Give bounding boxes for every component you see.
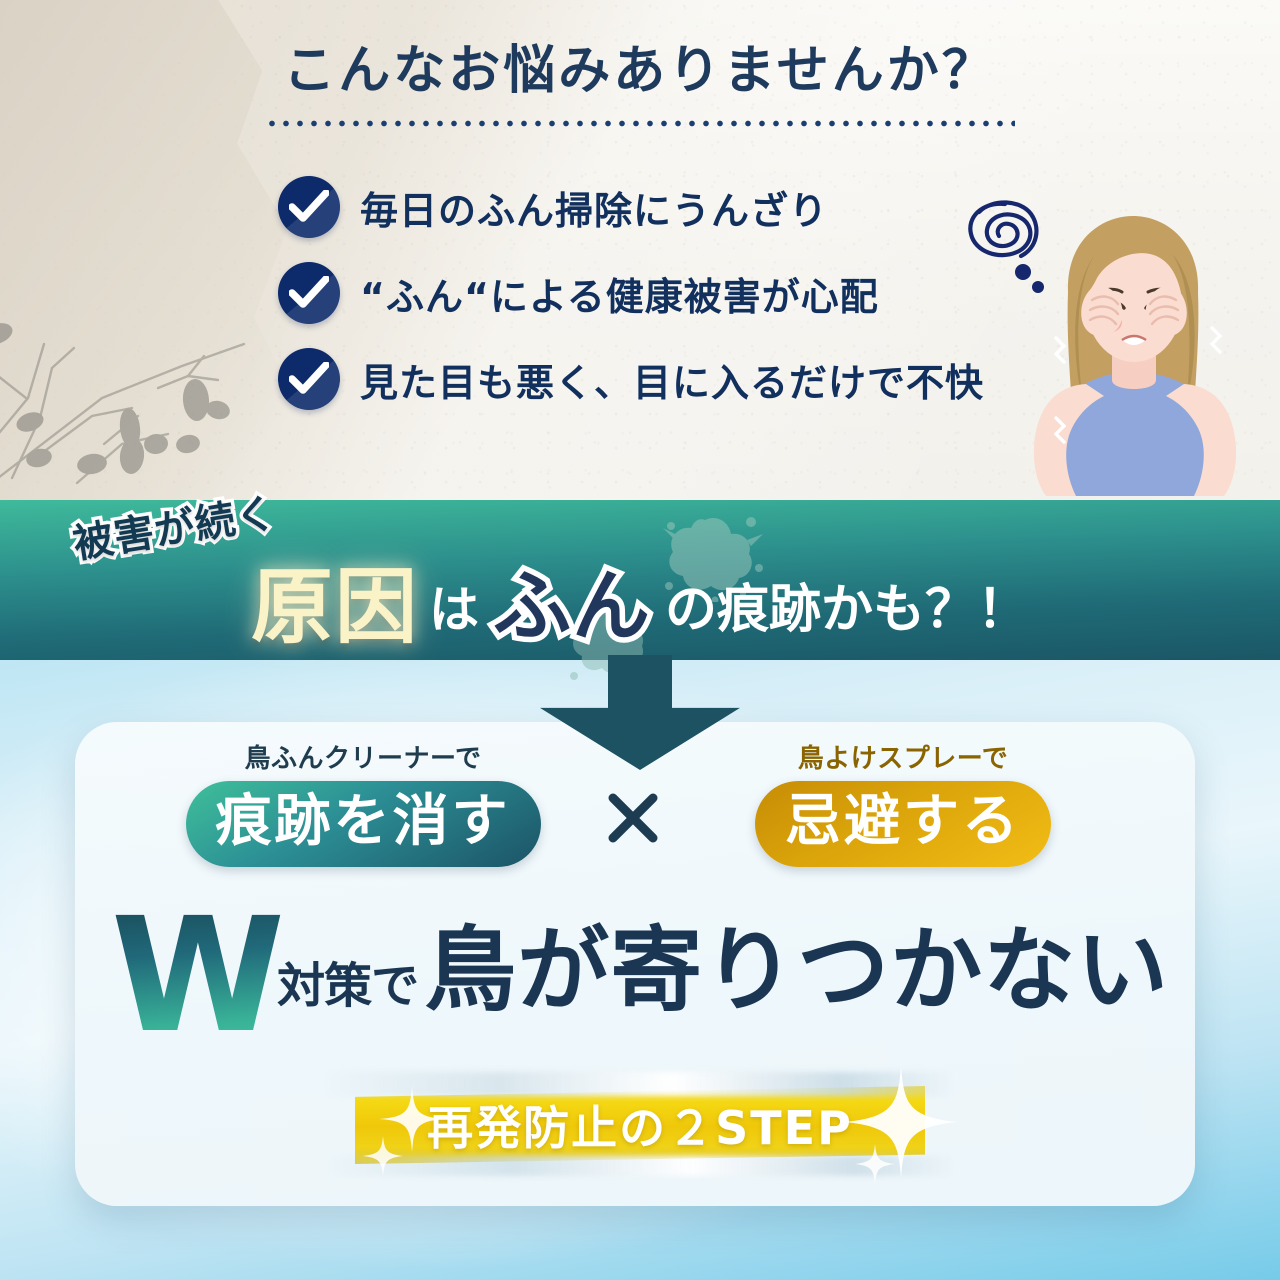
- multiply-icon: [603, 788, 663, 848]
- solution-left-group: 鳥ふんクリーナーで 痕跡を消す: [148, 738, 578, 867]
- left-pill-button[interactable]: 痕跡を消す: [186, 781, 541, 867]
- band-emphasis: ふん: [493, 562, 651, 652]
- ribbon-label: 再発防止の２STEP: [355, 1086, 925, 1164]
- headline-big-text: 鳥が寄りつかない: [424, 917, 1169, 1024]
- headline-small-text: 対策で: [277, 958, 418, 1014]
- check-circle-icon: [278, 262, 340, 324]
- page-title: こんなお悩みありませんか？: [0, 28, 1280, 103]
- check-circle-icon: [278, 176, 340, 238]
- headline-w-mark: W: [111, 884, 281, 1068]
- step-ribbon: 再発防止の２STEP: [355, 1072, 925, 1177]
- infographic-canvas: こんなお悩みありませんか？ 毎日のふん掃除にうんざり “ふん“による健康被害が心…: [0, 0, 1280, 1280]
- band-headline: 原因はふんの痕跡かも？！: [0, 540, 1280, 659]
- list-item: 見た目も悪く、目に入るだけで不快: [278, 348, 1038, 410]
- check-circle-icon: [278, 348, 340, 410]
- band-highlight: 原因: [251, 560, 419, 655]
- list-item-label: 毎日のふん掃除にうんざり: [360, 180, 828, 235]
- dotted-divider: [265, 120, 1015, 127]
- solution-headline: W対策で鳥が寄りつかない: [0, 896, 1280, 1055]
- problems-section: こんなお悩みありませんか？ 毎日のふん掃除にうんざり “ふん“による健康被害が心…: [0, 0, 1280, 500]
- band-tail: の痕跡かも？！: [665, 580, 1029, 640]
- list-item-label: 見た目も悪く、目に入るだけで不快: [360, 352, 984, 407]
- birds-on-branch-silhouette: [0, 248, 312, 500]
- problems-title-wrap: こんなお悩みありませんか？: [0, 28, 1280, 127]
- right-pill-button[interactable]: 忌避する: [755, 781, 1051, 867]
- right-pill-caption: 鳥よけスプレーで: [688, 738, 1118, 775]
- solution-right-group: 鳥よけスプレーで 忌避する: [688, 738, 1118, 867]
- left-pill-caption: 鳥ふんクリーナーで: [148, 738, 578, 775]
- cause-band: 被害が続く 原因はふんの痕跡かも？！: [0, 500, 1280, 660]
- problem-checklist: 毎日のふん掃除にうんざり “ふん“による健康被害が心配 見た目も悪く、目に入るだ…: [278, 176, 1038, 434]
- band-connector: は: [429, 581, 479, 639]
- list-item: 毎日のふん掃除にうんざり: [278, 176, 1038, 238]
- list-item: “ふん“による健康被害が心配: [278, 262, 1038, 324]
- list-item-label: “ふん“による健康被害が心配: [360, 266, 879, 321]
- worried-woman-illustration: [1000, 196, 1266, 496]
